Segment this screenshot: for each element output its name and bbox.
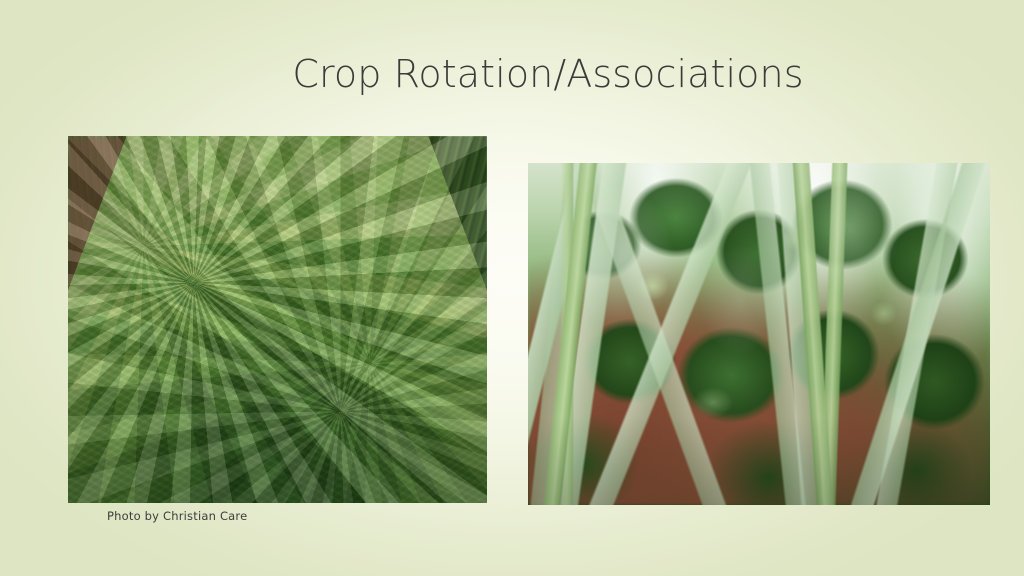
left-photo-vignette [68, 136, 487, 503]
presentation-slide: Crop Rotation/Associations Photo by Chri… [0, 0, 1024, 576]
page-title: Crop Rotation/Associations [0, 52, 1024, 96]
photo-right-maize-bean-intercrop[interactable] [528, 163, 990, 505]
photo-credit-caption: Photo by Christian Care [107, 509, 247, 523]
right-photo-vignette [528, 163, 990, 505]
photo-left-crop-rotation-field[interactable] [68, 136, 487, 503]
